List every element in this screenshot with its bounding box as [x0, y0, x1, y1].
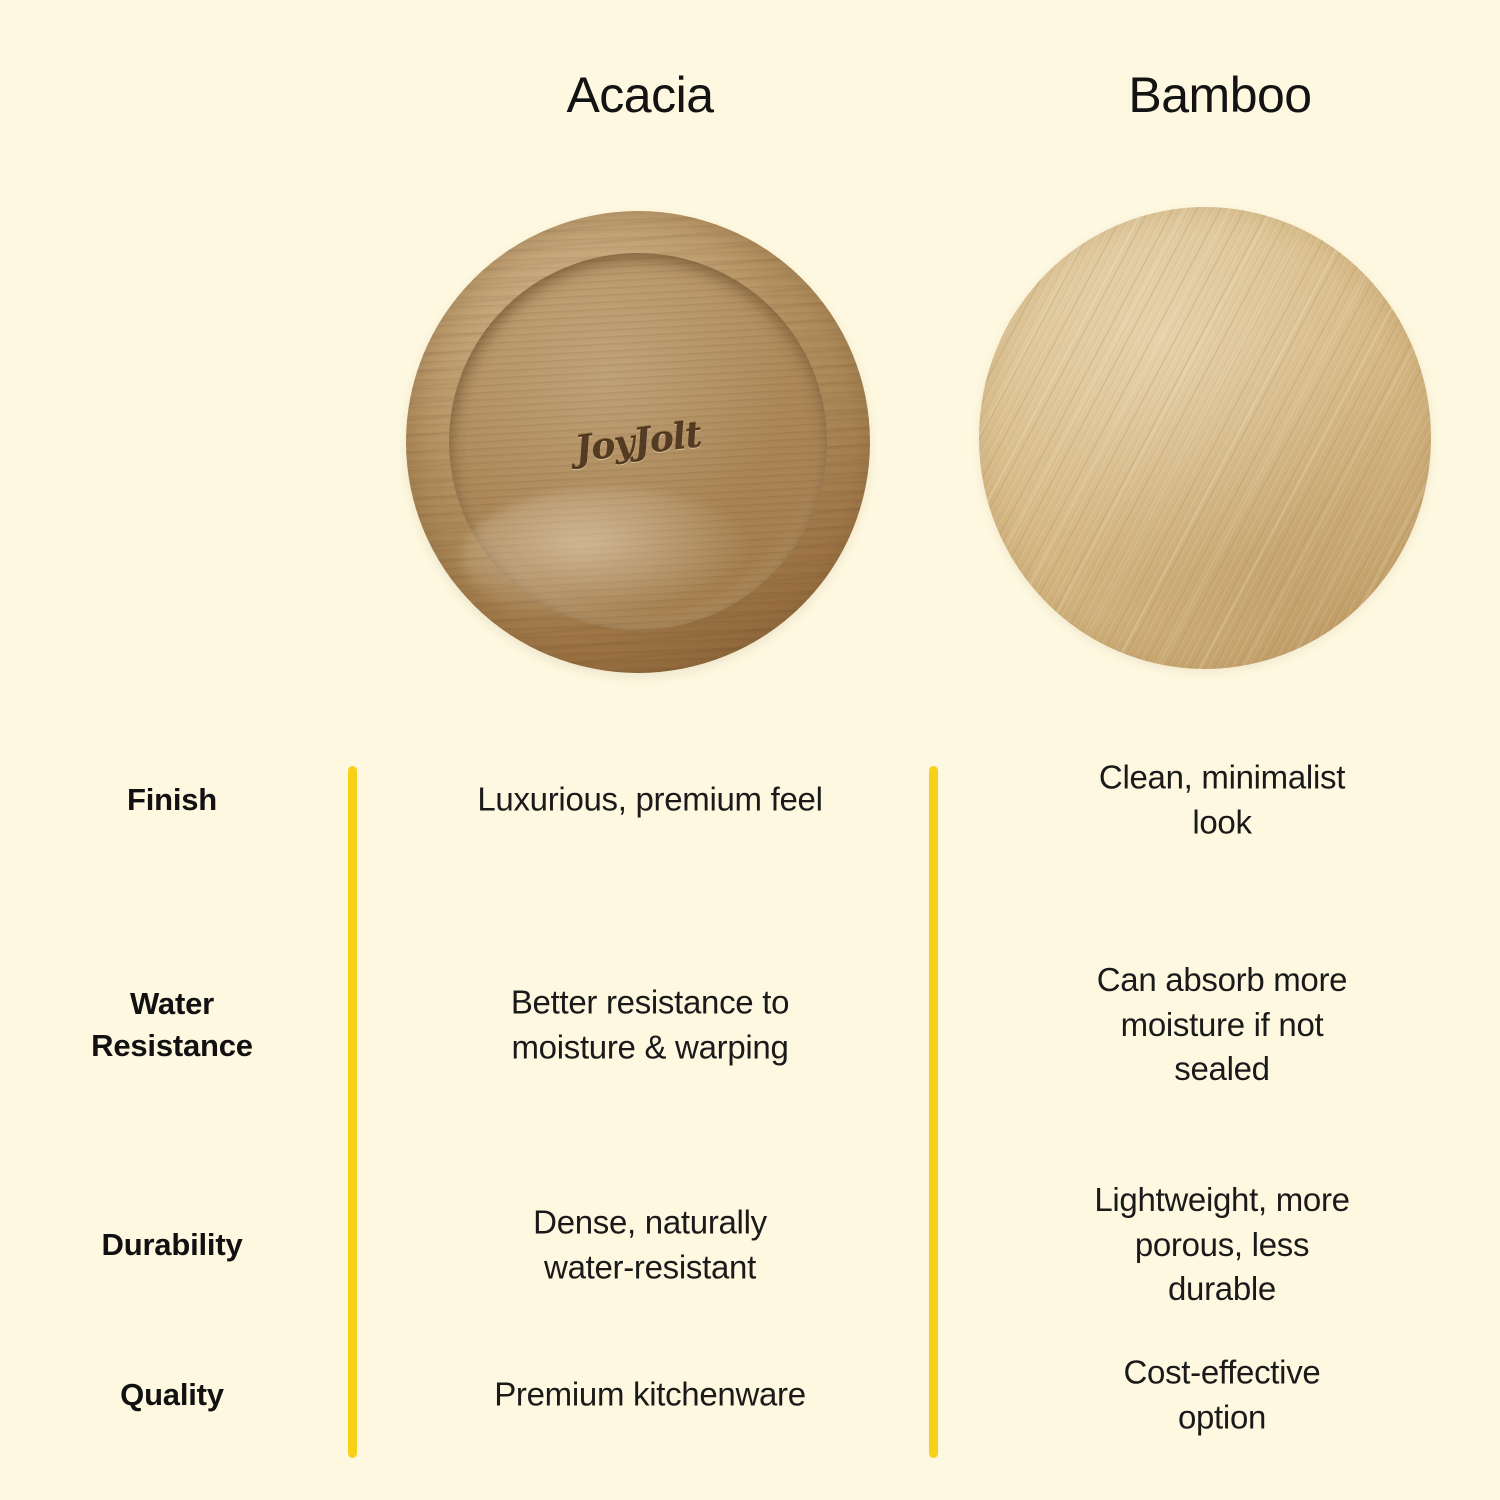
cell-finish-bamboo: Clean, minimalist look	[1083, 755, 1361, 844]
column-header-acacia: Acacia	[566, 66, 713, 124]
column-header-bamboo: Bamboo	[1128, 66, 1311, 124]
cell-durability-acacia: Dense, naturally water-resistant	[533, 1200, 767, 1289]
cell-water-resistance-bamboo: Can absorb more moisture if not sealed	[1083, 958, 1361, 1092]
bamboo-disc-image	[979, 207, 1431, 669]
column-divider-left	[348, 766, 357, 1458]
bamboo-grain-stripes-light	[979, 207, 1431, 669]
row-label-finish: Finish	[127, 779, 217, 821]
cell-water-resistance-acacia: Better resistance to moisture & warping	[511, 980, 789, 1069]
row-label-water-resistance: Water Resistance	[91, 983, 253, 1067]
column-divider-right	[929, 766, 938, 1458]
cell-quality-bamboo: Cost-effective option	[1083, 1350, 1361, 1439]
acacia-highlight-sheen	[462, 488, 759, 627]
comparison-infographic: Acacia Bamboo JoyJolt Finish Luxurious, …	[0, 0, 1500, 1500]
cell-quality-acacia: Premium kitchenware	[494, 1373, 806, 1418]
acacia-plate-image: JoyJolt	[406, 211, 870, 673]
row-label-quality: Quality	[120, 1374, 224, 1416]
cell-durability-bamboo: Lightweight, more porous, less durable	[1083, 1178, 1361, 1312]
cell-finish-acacia: Luxurious, premium feel	[477, 778, 822, 823]
row-label-durability: Durability	[102, 1224, 243, 1266]
